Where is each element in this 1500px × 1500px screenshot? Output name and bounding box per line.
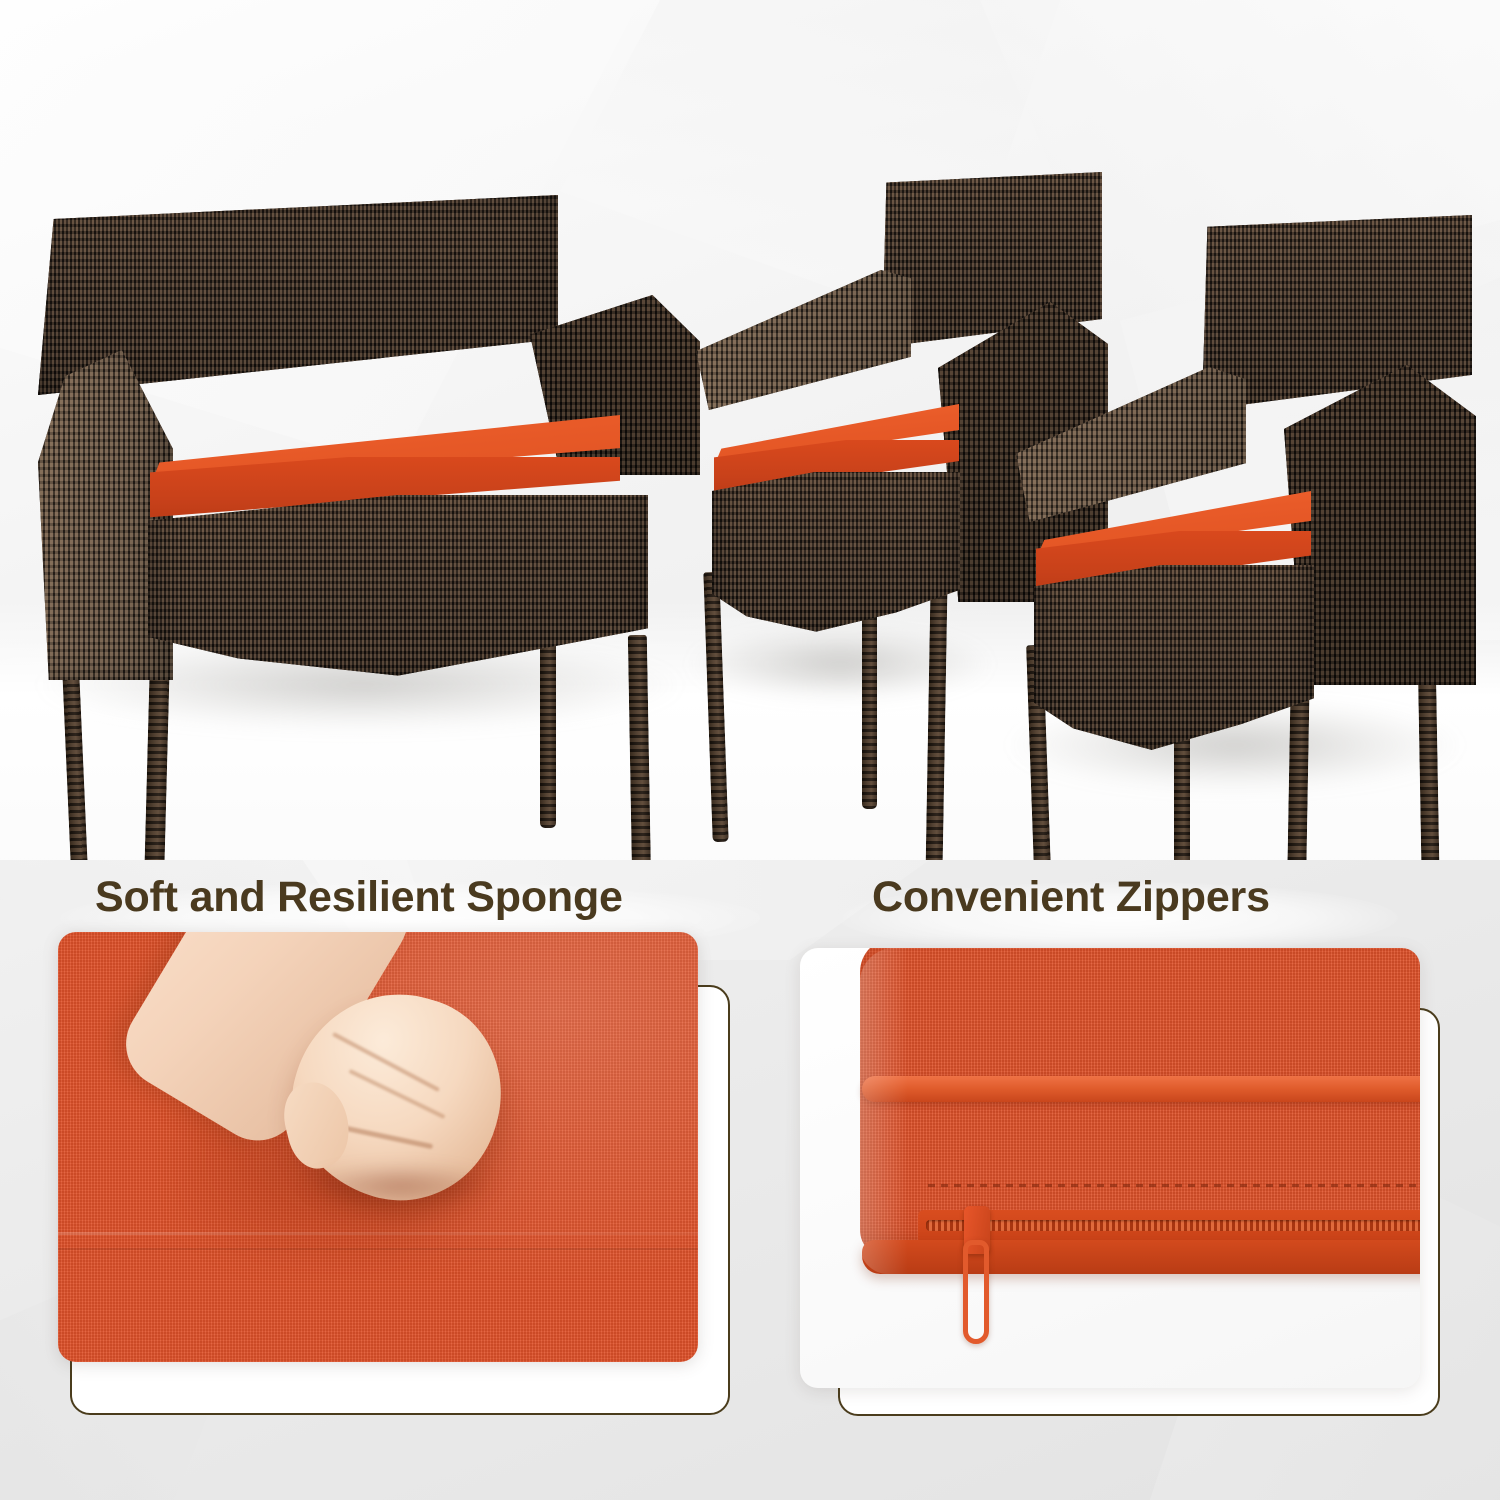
loveseat-bench: [30, 195, 680, 755]
product-feature-graphic: Soft and Resilient Sponge: [0, 0, 1500, 1500]
zipper-photo-card: [800, 948, 1420, 1388]
sponge-press-photo: [58, 932, 698, 1362]
armchair-right-arm-left: [1016, 367, 1246, 522]
armchair-left-front-apron: [712, 472, 960, 662]
armchair-right: [1002, 215, 1472, 815]
armchair-left-arm-left: [696, 270, 911, 410]
cushion-edge-highlight: [860, 948, 908, 1274]
feature-title-sponge: Soft and Resilient Sponge: [95, 873, 623, 922]
stitch-line: [928, 1184, 1420, 1187]
cushion-piping-top: [862, 1076, 1420, 1102]
hero-product-photo: [0, 0, 1500, 860]
loveseat-apron-arch: [158, 647, 636, 737]
zipper-pull-tab: [963, 1240, 989, 1344]
zipper-teeth: [926, 1220, 1420, 1231]
fist-contact-shadow: [300, 1164, 500, 1208]
feature-title-zippers: Convenient Zippers: [872, 873, 1270, 922]
cushion-lower-welt: [862, 1240, 1420, 1274]
